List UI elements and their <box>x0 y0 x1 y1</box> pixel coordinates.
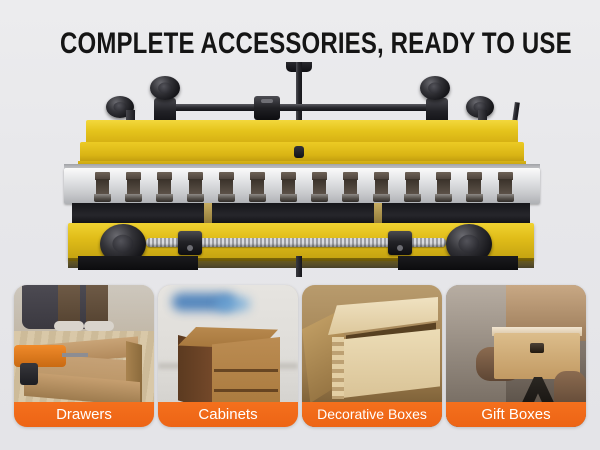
comb-tooth <box>249 172 266 202</box>
comb-tooth <box>218 172 235 202</box>
center-post-lower <box>296 256 302 277</box>
comb-template-fingers <box>94 172 514 202</box>
rod-collar-right <box>388 231 412 255</box>
base-foot-right <box>398 256 518 270</box>
clamp-bar-seam <box>374 203 382 225</box>
center-post <box>296 62 302 120</box>
post-lower-collar <box>294 146 304 158</box>
comb-tooth <box>435 172 452 202</box>
comb-tooth <box>373 172 390 202</box>
card-label: Cabinets <box>158 402 298 427</box>
base-foot-left <box>78 256 198 270</box>
comb-tooth <box>342 172 359 202</box>
comb-tooth <box>156 172 173 202</box>
card-label: Decorative Boxes <box>302 402 442 427</box>
list-item[interactable]: Cabinets <box>158 285 298 427</box>
comb-tooth <box>94 172 111 202</box>
hero-product-image <box>0 62 600 277</box>
promo-banner: COMPLETE ACCESSORIES, READY TO USE <box>0 0 600 450</box>
application-card-list: Drawers Cabinets Deco <box>14 285 586 427</box>
comb-tooth <box>311 172 328 202</box>
clamp-bar <box>72 203 530 225</box>
comb-tooth <box>466 172 483 202</box>
dovetail-jig <box>58 68 542 273</box>
list-item[interactable]: Drawers <box>14 285 154 427</box>
knob-right-upper[interactable] <box>420 76 450 100</box>
card-label: Gift Boxes <box>446 402 586 427</box>
rod-slider-block <box>254 96 280 120</box>
card-label: Drawers <box>14 402 154 427</box>
list-item[interactable]: Decorative Boxes <box>302 285 442 427</box>
clamp-bar-seam <box>204 203 212 225</box>
knob-left-upper[interactable] <box>150 76 180 100</box>
comb-tooth <box>497 172 514 202</box>
list-item[interactable]: Gift Boxes <box>446 285 586 427</box>
comb-tooth <box>187 172 204 202</box>
comb-tooth <box>280 172 297 202</box>
page-title: COMPLETE ACCESSORIES, READY TO USE <box>60 27 540 61</box>
upper-guide-rod <box>166 104 434 111</box>
comb-tooth <box>404 172 421 202</box>
comb-tooth <box>125 172 142 202</box>
rod-collar-left <box>178 231 202 255</box>
